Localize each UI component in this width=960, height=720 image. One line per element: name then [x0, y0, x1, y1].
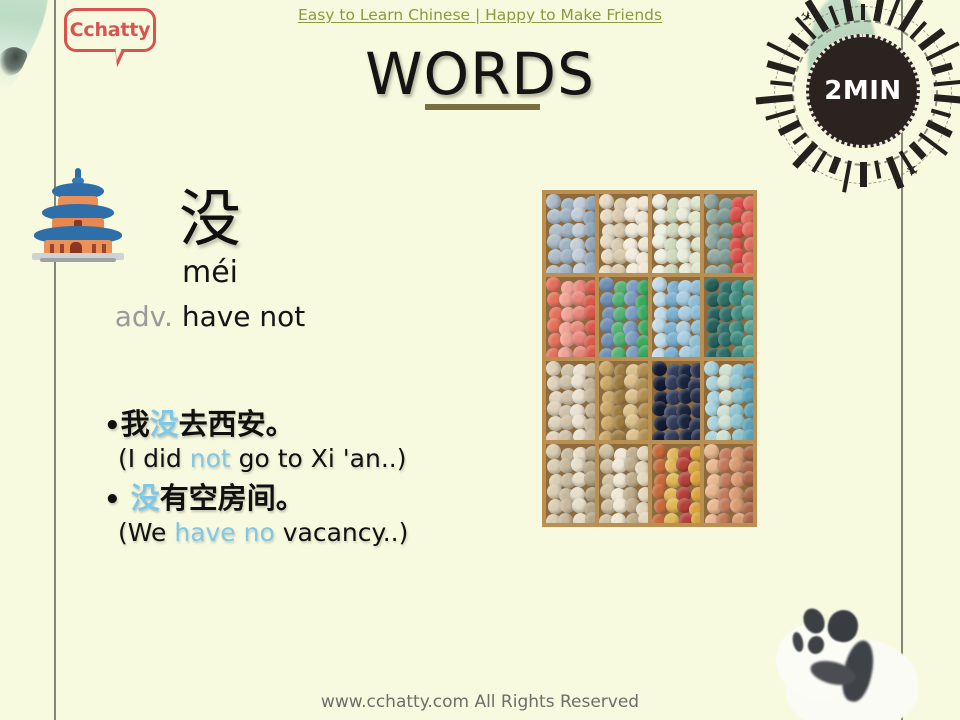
yarn-shelf-photo: [542, 190, 757, 527]
slide-canvas: Cchatty Easy to Learn Chinese | Happy to…: [0, 0, 960, 720]
yarn-cubby: [546, 194, 595, 273]
example-2-cn-highlight: 没: [131, 481, 160, 515]
yarn-cubby: [546, 361, 595, 440]
yarn-cubby: [546, 444, 595, 523]
yarn-cubby: [599, 444, 648, 523]
example-1-en-after: go to Xi 'an..): [231, 444, 407, 473]
yarn-cubby: [652, 444, 701, 523]
word-hanzi: 没: [130, 188, 290, 250]
example-1-en-before: (I did: [118, 444, 190, 473]
example-1-cn-before: 我: [121, 407, 150, 441]
yarn-cubby: [599, 361, 648, 440]
example-1-english: (I did not go to Xi 'an..): [118, 443, 504, 476]
yarn-cubby: [599, 194, 648, 273]
part-of-speech: adv.: [115, 300, 173, 333]
bullet-2: •: [104, 485, 121, 515]
example-1-chinese: •我没去西安。: [104, 406, 504, 443]
badge-label: 2MIN: [824, 76, 901, 106]
example-1-en-highlight: not: [190, 444, 231, 473]
footer-text: www.cchatty.com All Rights Reserved: [0, 692, 960, 712]
yarn-cubby: [546, 277, 595, 356]
yarn-cubby: [704, 444, 753, 523]
word-pinyin: méi: [130, 255, 290, 290]
example-2-chinese: • 没有空房间。: [104, 480, 504, 517]
shelf-grid: [542, 190, 757, 527]
yarn-cubby: [652, 361, 701, 440]
yarn-cubby: [652, 277, 701, 356]
yarn-cubby: [704, 361, 753, 440]
example-item-1: •我没去西安。 (I did not go to Xi 'an..): [104, 406, 504, 476]
duration-badge: 2MIN ✈ ✈: [770, 4, 955, 184]
word-definition: adv. have not: [60, 300, 360, 333]
temple-of-heaven-icon: [28, 168, 128, 260]
example-2-cn-after: 有空房间。: [160, 481, 305, 515]
yarn-cubby: [704, 194, 753, 273]
badge-circle: 2MIN: [806, 34, 920, 148]
example-2-en-after: vacancy..): [275, 518, 409, 547]
example-2-en-before: (We: [118, 518, 174, 547]
example-1-cn-after: 去西安。: [179, 407, 295, 441]
example-1-cn-highlight: 没: [150, 407, 179, 441]
yarn-cubby: [599, 277, 648, 356]
example-list: •我没去西安。 (I did not go to Xi 'an..) • 没有空…: [104, 406, 504, 550]
yarn-cubby: [704, 277, 753, 356]
word-meaning: have not: [182, 300, 305, 333]
title-underline-rule: [425, 104, 540, 110]
bullet-1: •: [104, 411, 121, 441]
left-rule-line: [54, 0, 56, 720]
example-2-en-highlight: have no: [174, 518, 274, 547]
example-2-english: (We have no vacancy..): [118, 517, 504, 550]
yarn-cubby: [652, 194, 701, 273]
example-item-2: • 没有空房间。 (We have no vacancy..): [104, 480, 504, 550]
